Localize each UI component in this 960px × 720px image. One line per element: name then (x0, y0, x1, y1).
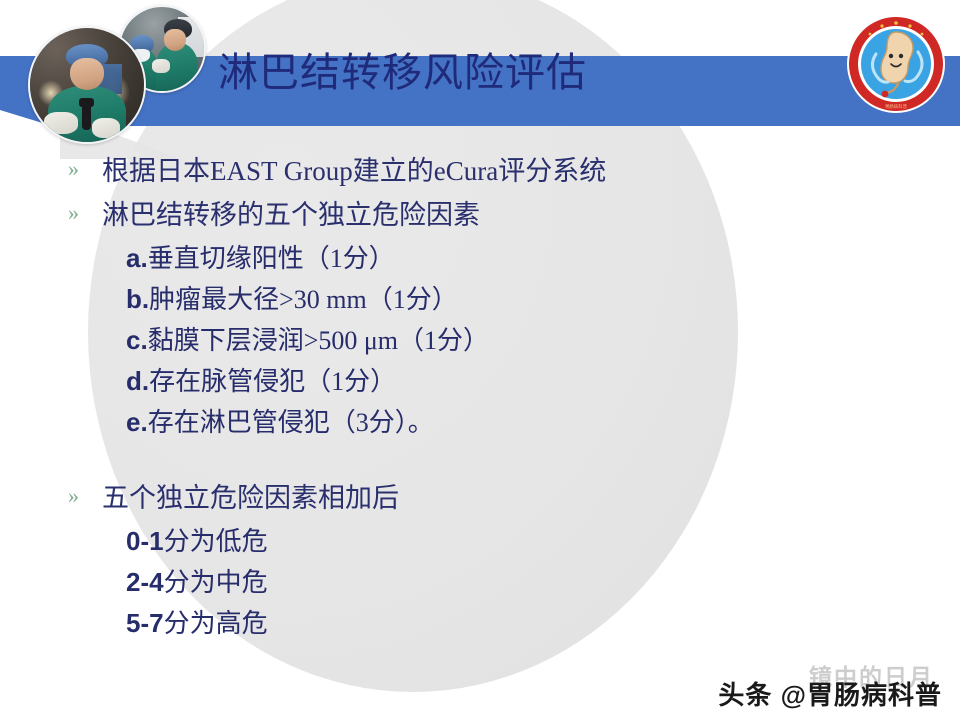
factor-item: e.存在淋巴管侵犯（3分）。 (0, 402, 760, 443)
factor-item: a.垂直切缘阳性（1分） (0, 238, 760, 279)
risk-label: 分为低危 (164, 527, 268, 556)
factor-item: d.存在脉管侵犯（1分） (0, 361, 760, 402)
factor-text: 垂直切缘阳性（1分） (148, 244, 395, 273)
factor-item: b.肿瘤最大径>30 mm（1分） (0, 279, 760, 320)
factor-text: 存在淋巴管侵犯（3分）。 (148, 408, 434, 437)
bullet-text: 五个独立危险因素相加后 (102, 477, 399, 519)
factor-text: 肿瘤最大径>30 mm（1分） (149, 285, 458, 314)
slide-body: » 根据日本EAST Group建立的eCura评分系统 » 淋巴结转移的五个独… (0, 150, 760, 644)
factor-text: 黏膜下层浸润>500 μm（1分） (148, 326, 489, 355)
factor-mark: b. (126, 284, 149, 314)
watermark-text: 头条 @胃肠病科普 (718, 675, 942, 712)
bullet-item: » 根据日本EAST Group建立的eCura评分系统 (0, 150, 760, 192)
risk-level-item: 5-7分为高危 (0, 603, 760, 644)
factor-mark: a. (126, 243, 148, 273)
risk-range: 5-7 (126, 608, 164, 638)
bullet-item-summary: » 五个独立危险因素相加后 (0, 477, 760, 519)
risk-label: 分为高危 (164, 609, 268, 638)
doctor-endoscopy-photo (28, 26, 146, 144)
page-title: 淋巴结转移风险评估 (218, 48, 587, 98)
bullet-item: » 淋巴结转移的五个独立危险因素 (0, 194, 760, 236)
factor-mark: c. (126, 325, 148, 355)
slide-canvas: 淋巴结转移风险评估 胃肠病科普 » (0, 0, 960, 720)
risk-label: 分为中危 (164, 568, 268, 597)
chevron-double-right-icon: » (68, 154, 79, 184)
risk-range: 0-1 (126, 526, 164, 556)
chevron-double-right-icon: » (68, 198, 79, 228)
chevron-double-right-icon: » (68, 481, 79, 511)
risk-level-item: 0-1分为低危 (0, 521, 760, 562)
factor-mark: d. (126, 366, 149, 396)
content-spacer (0, 443, 760, 477)
risk-level-item: 2-4分为中危 (0, 562, 760, 603)
risk-range: 2-4 (126, 567, 164, 597)
factor-mark: e. (126, 407, 148, 437)
factor-text: 存在脉管侵犯（1分） (149, 367, 396, 396)
svg-text:胃肠病科普: 胃肠病科普 (885, 103, 908, 110)
bullet-text: 淋巴结转移的五个独立危险因素 (102, 194, 480, 236)
factor-item: c.黏膜下层浸润>500 μm（1分） (0, 320, 760, 361)
stomach-mascot-emblem-icon: 胃肠病科普 (846, 14, 946, 114)
bullet-text: 根据日本EAST Group建立的eCura评分系统 (102, 150, 606, 192)
